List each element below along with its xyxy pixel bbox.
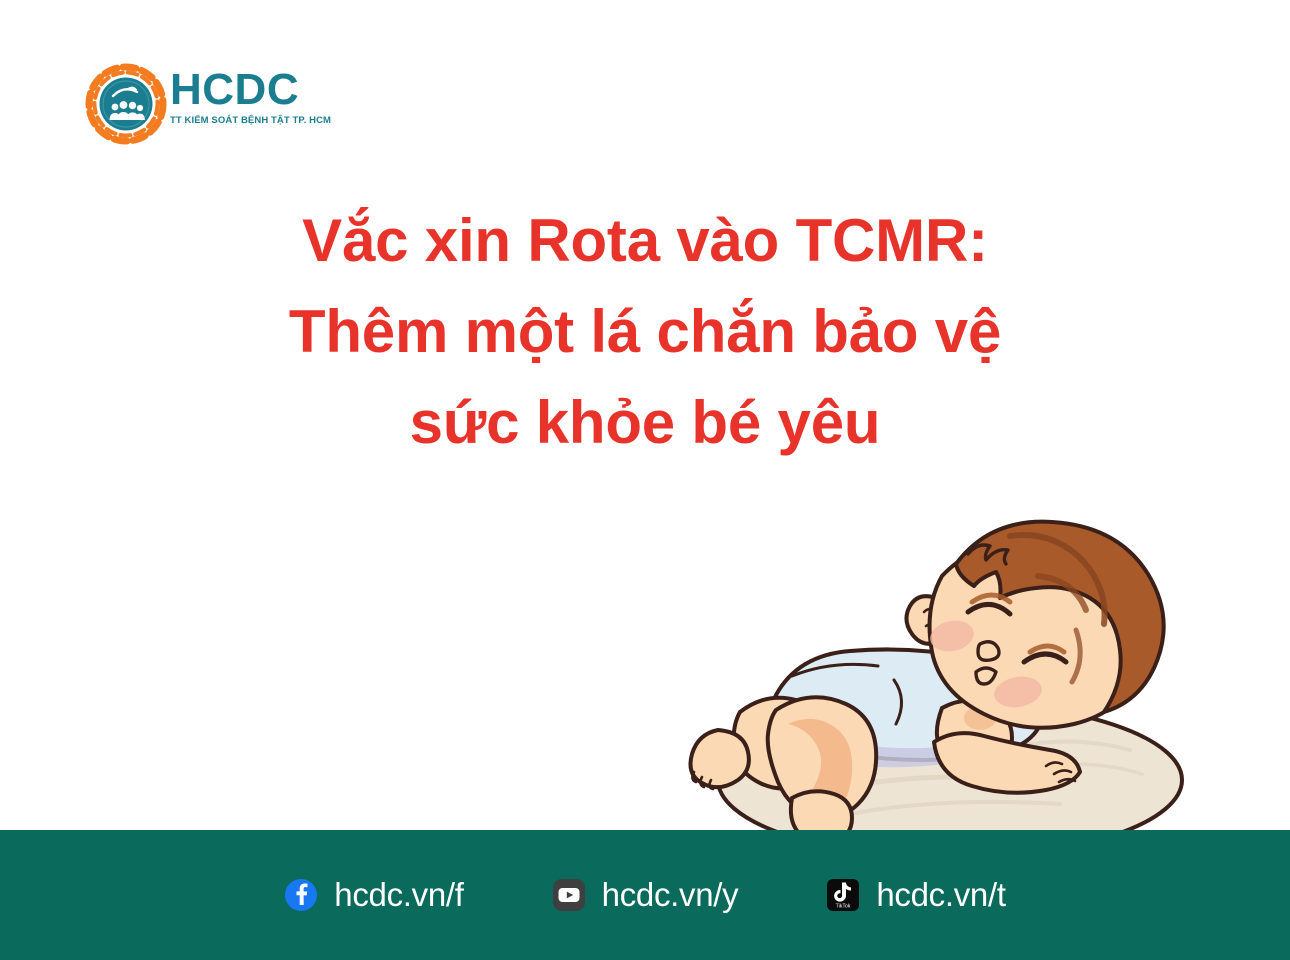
- social-link-youtube[interactable]: hcdc.vn/y: [552, 876, 739, 914]
- youtube-icon: [552, 878, 586, 912]
- hcdc-logo-text: HCDC TT KIỂM SOÁT BỆNH TẬT TP. HCM: [170, 68, 310, 126]
- tiktok-link-label: hcdc.vn/t: [876, 876, 1005, 914]
- headline-line-1: Vắc xin Rota vào TCMR:: [0, 195, 1290, 286]
- headline-line-3: sức khỏe bé yêu: [0, 377, 1290, 468]
- tiktok-icon: TikTok: [826, 878, 860, 912]
- poster-canvas: HCDC TT KIỂM SOÁT BỆNH TẬT TP. HCM Vắc x…: [0, 0, 1290, 960]
- headline-line-2: Thêm một lá chắn bảo vệ: [0, 286, 1290, 377]
- sleeping-baby-on-pillow-illustration: [680, 480, 1220, 870]
- social-links-row: hcdc.vn/f hcdc.vn/y TikTo: [0, 830, 1290, 960]
- facebook-link-label: hcdc.vn/f: [334, 876, 463, 914]
- hcdc-wordmark: HCDC: [170, 68, 310, 112]
- hcdc-emblem-icon: [82, 60, 170, 148]
- social-link-facebook[interactable]: hcdc.vn/f: [284, 876, 463, 914]
- svg-text:TikTok: TikTok: [836, 904, 851, 910]
- social-link-tiktok[interactable]: TikTok hcdc.vn/t: [826, 876, 1005, 914]
- hcdc-logo[interactable]: HCDC TT KIỂM SOÁT BỆNH TẬT TP. HCM: [82, 60, 312, 148]
- youtube-link-label: hcdc.vn/y: [602, 876, 739, 914]
- footer-band: hcdc.vn/f hcdc.vn/y TikTo: [0, 830, 1290, 960]
- hcdc-tagline: TT KIỂM SOÁT BỆNH TẬT TP. HCM: [170, 115, 310, 126]
- page-title: Vắc xin Rota vào TCMR: Thêm một lá chắn …: [0, 195, 1290, 469]
- facebook-icon: [284, 878, 318, 912]
